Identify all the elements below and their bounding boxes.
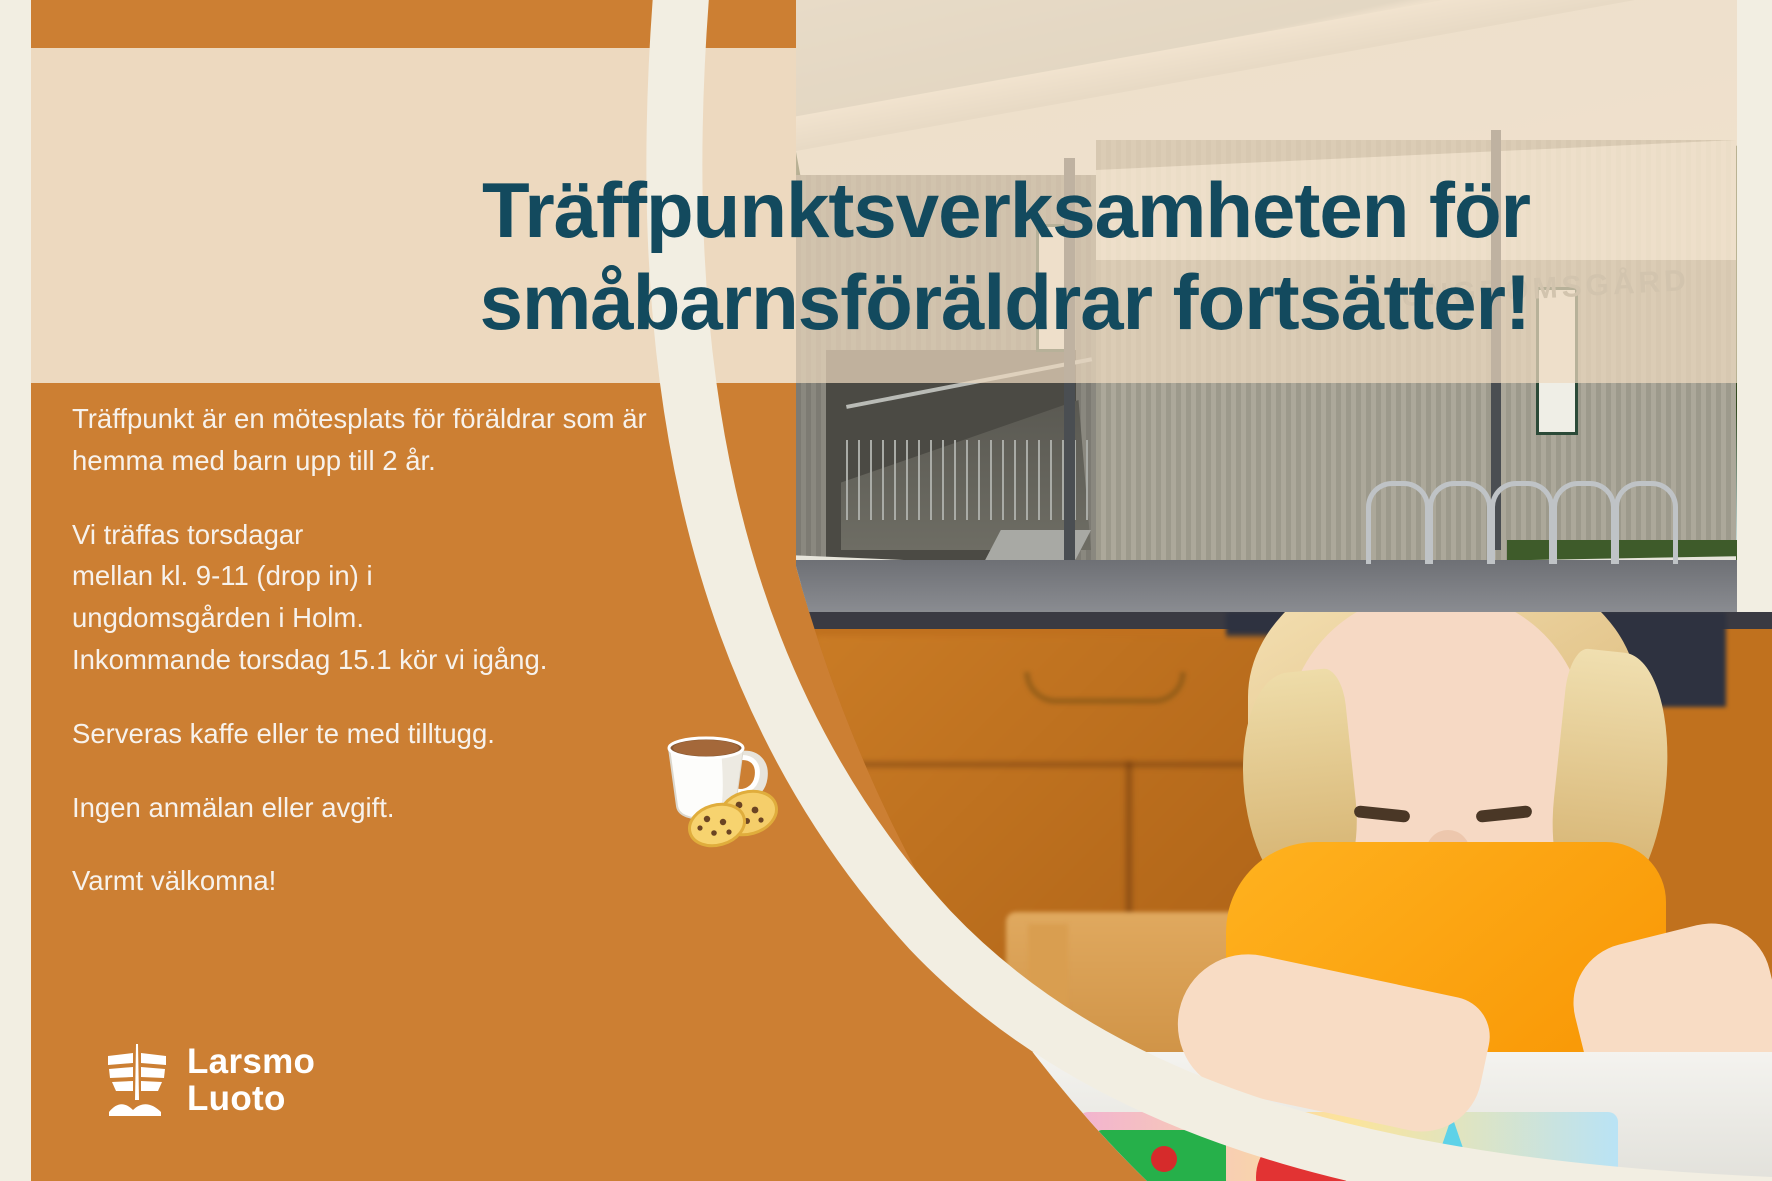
schedule-line-3: ungdomsgården i Holm. [72, 602, 364, 633]
larsmo-luoto-logo: Larsmo Luoto [105, 1042, 315, 1118]
puzzle-peg-square [1151, 1146, 1177, 1172]
body-paragraph-intro: Träffpunkt är en mötesplats för föräldra… [72, 398, 652, 482]
body-copy: Träffpunkt är en mötesplats för föräldra… [72, 398, 652, 902]
page-title-line-1: Träffpunktsverksamheten för [0, 164, 1530, 256]
page-title: Träffpunktsverksamheten för småbarnsförä… [0, 164, 1530, 348]
page-title-line-2: småbarnsföräldrar fortsätter! [0, 256, 1530, 348]
poster: UNGDOMSGÅRD [0, 0, 1772, 1181]
logo-wordmark: Larsmo Luoto [187, 1043, 315, 1117]
shield-sail-waves-icon [105, 1042, 169, 1118]
schedule-line-2: mellan kl. 9-11 (drop in) i [72, 560, 373, 591]
coffee-cup-and-cookies-icon [655, 718, 785, 853]
bike-rack-2 [1428, 481, 1492, 564]
body-paragraph-schedule: Vi träffas torsdagar mellan kl. 9-11 (dr… [72, 514, 652, 681]
puzzle-peg-star [1436, 1152, 1462, 1178]
cabinet-handle-1 [1024, 672, 1186, 704]
body-paragraph-no-fee: Ingen anmälan eller avgift. [72, 787, 652, 829]
schedule-line-1: Vi träffas torsdagar [72, 519, 303, 550]
bike-rack-1 [1366, 481, 1430, 564]
ramp-balusters [846, 440, 1096, 520]
body-paragraph-refreshments: Serveras kaffe eller te med tilltugg. [72, 713, 652, 755]
bike-rack-3 [1490, 481, 1554, 564]
left-cream-margin [0, 0, 31, 1181]
logo-name-fi: Luoto [187, 1080, 315, 1117]
logo-name-sv: Larsmo [187, 1043, 315, 1080]
body-paragraph-welcome: Varmt välkomna! [72, 860, 652, 902]
schedule-line-4: Inkommande torsdag 15.1 kör vi igång. [72, 644, 547, 675]
building-window-2 [1536, 287, 1578, 435]
bike-rack-4 [1552, 481, 1616, 564]
bike-rack-5 [1614, 481, 1678, 564]
asphalt-yard [796, 560, 1737, 612]
